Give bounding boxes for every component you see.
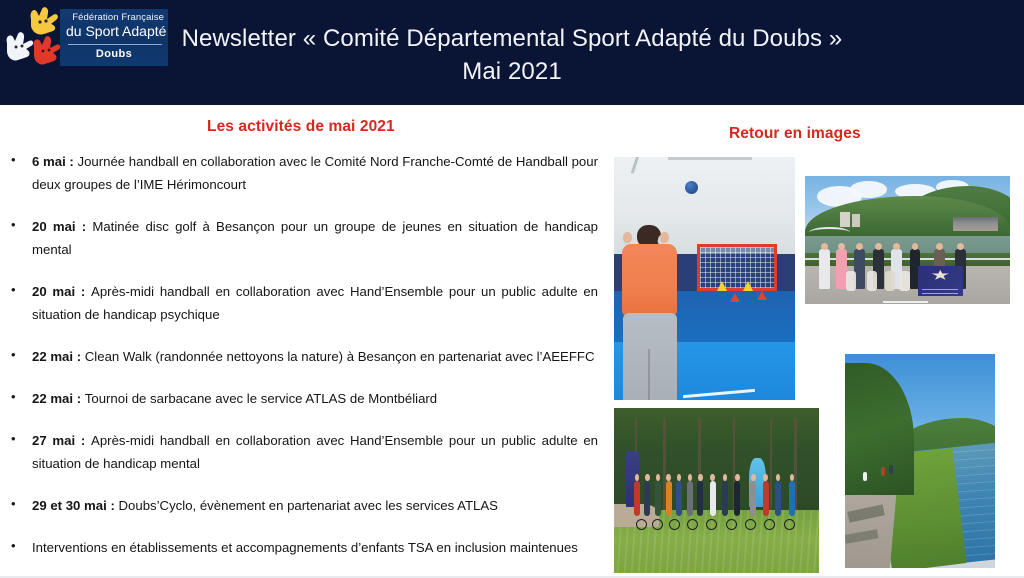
participant-head xyxy=(856,243,863,250)
cyclist-head xyxy=(751,474,756,481)
bullet-icon: • xyxy=(11,495,16,513)
bicycle-wheel xyxy=(669,519,680,530)
court-line xyxy=(683,389,755,398)
training-cone xyxy=(730,293,740,302)
cyclist xyxy=(734,481,740,516)
player-hand xyxy=(623,232,632,243)
training-cone xyxy=(743,281,753,291)
item-text: Tournoi de sarbacane avec le service ATL… xyxy=(85,391,437,406)
trash-bag xyxy=(885,271,895,291)
logo-divider xyxy=(68,44,162,45)
bullet-icon: • xyxy=(11,388,16,406)
banner-logo-icon xyxy=(931,270,949,280)
cyclist xyxy=(697,481,703,516)
item-date: 22 mai : xyxy=(32,349,85,364)
river-cycle-path-photo xyxy=(845,354,995,568)
title-line-2: Mai 2021 xyxy=(176,55,848,88)
item-date: 20 mai : xyxy=(32,284,91,299)
handball-ball xyxy=(685,181,698,194)
item-text: Matinée disc golf à Besançon pour un gro… xyxy=(32,219,598,257)
ffsa-doubs-logo: Fédération Française du Sport Adapté Dou… xyxy=(4,3,168,73)
cyclist-head xyxy=(698,474,703,481)
activities-heading: Les activités de mai 2021 xyxy=(207,118,395,136)
building xyxy=(953,217,998,231)
ceiling-beam xyxy=(631,157,639,173)
item-text: Après-midi handball en collaboration ave… xyxy=(32,433,598,471)
activities-list: • 6 mai : Journée handball en collaborat… xyxy=(0,150,606,578)
list-item: • 22 mai : Tournoi de sarbacane avec le … xyxy=(0,387,606,410)
cyclist xyxy=(676,481,682,516)
building xyxy=(840,212,850,227)
cyclist xyxy=(722,481,728,516)
bicycle-wheel xyxy=(636,519,647,530)
player-figure xyxy=(621,225,681,400)
ceiling-beam xyxy=(668,157,751,160)
item-date: 20 mai : xyxy=(32,219,92,234)
list-item: • 29 et 30 mai : Doubs’Cyclo, évènement … xyxy=(0,494,606,517)
player-trousers xyxy=(623,313,677,401)
page-title: Newsletter « Comité Départemental Sport … xyxy=(176,22,848,88)
cyclist-head xyxy=(645,474,650,481)
cyclist xyxy=(775,481,781,516)
participant-head xyxy=(821,243,828,250)
item-text: Journée handball en collaboration avec l… xyxy=(32,154,598,192)
cyclist-head xyxy=(735,474,740,481)
item-text: Interventions en établissements et accom… xyxy=(32,540,578,555)
training-cone xyxy=(717,281,727,291)
participant-head xyxy=(936,243,943,250)
logo-line-federation: Fédération Française xyxy=(70,12,164,23)
orange-bib xyxy=(622,244,677,316)
cyclist xyxy=(881,467,885,476)
bullet-icon: • xyxy=(11,346,16,364)
participant xyxy=(819,249,830,289)
list-item: • Interventions en établissements et acc… xyxy=(0,536,606,559)
participant-head xyxy=(893,243,900,250)
bullet-icon: • xyxy=(11,151,16,169)
newsletter-page: Fédération Française du Sport Adapté Dou… xyxy=(0,0,1024,578)
item-date: 27 mai : xyxy=(32,433,91,448)
cyclist xyxy=(655,481,661,516)
photo-gallery xyxy=(600,140,1024,578)
item-text: Après-midi handball en collaboration ave… xyxy=(32,284,598,322)
cyclist xyxy=(644,481,650,516)
bullet-icon: • xyxy=(11,281,16,299)
cyclist-head xyxy=(677,474,682,481)
page-header: Fédération Française du Sport Adapté Dou… xyxy=(0,0,1024,105)
bicycle-wheel xyxy=(726,519,737,530)
cyclist-head xyxy=(688,474,693,481)
road-marking xyxy=(883,301,928,303)
bicycle-wheel xyxy=(745,519,756,530)
trash-bag xyxy=(899,271,909,291)
handball-session-photo xyxy=(614,157,795,400)
doubs-cyclo-group-photo xyxy=(614,408,819,573)
cyclist xyxy=(634,481,640,516)
item-date: 6 mai : xyxy=(32,154,77,169)
item-date: 29 et 30 mai : xyxy=(32,498,119,513)
cyclist xyxy=(863,472,867,481)
cyclist-head xyxy=(763,474,768,481)
cyclist xyxy=(687,481,693,516)
trash-bag xyxy=(846,271,856,291)
banner-text xyxy=(922,286,958,294)
mascot-figures-icon xyxy=(4,5,66,71)
logo-text-plate: Fédération Française du Sport Adapté Dou… xyxy=(60,9,168,66)
cyclist-head xyxy=(723,474,728,481)
cyclist xyxy=(750,481,756,516)
cyclist xyxy=(789,481,795,516)
title-line-1: Newsletter « Comité Départemental Sport … xyxy=(182,25,843,52)
cyclist-head xyxy=(776,474,781,481)
logo-line-sport-adapte: du Sport Adapté xyxy=(66,23,164,39)
participant-head xyxy=(957,243,964,250)
list-item: • 6 mai : Journée handball en collaborat… xyxy=(0,150,606,196)
player-hand xyxy=(660,232,669,243)
cloud xyxy=(850,181,887,198)
handball-goal xyxy=(697,244,777,290)
logo-line-doubs: Doubs xyxy=(60,48,168,60)
cyclist-head xyxy=(635,474,640,481)
cyclist xyxy=(763,481,769,516)
item-text: Clean Walk (randonnée nettoyons la natur… xyxy=(85,349,595,364)
participant-head xyxy=(875,243,882,250)
bullet-icon: • xyxy=(11,537,16,555)
cyclist xyxy=(889,465,893,474)
bicycle-wheel xyxy=(706,519,717,530)
list-item: • 27 mai : Après-midi handball en collab… xyxy=(0,429,606,475)
bicycle-wheel xyxy=(784,519,795,530)
goal-net xyxy=(700,247,774,287)
ffsa-banner xyxy=(918,266,963,297)
item-text: Doubs’Cyclo, évènement en partenariat av… xyxy=(119,498,498,513)
trash-bag xyxy=(867,271,877,291)
cyclist-head xyxy=(666,474,671,481)
list-item: • 20 mai : Après-midi handball en collab… xyxy=(0,280,606,326)
cyclist-head xyxy=(790,474,795,481)
cyclist-head xyxy=(710,474,715,481)
list-item: • 20 mai : Matinée disc golf à Besançon … xyxy=(0,215,606,261)
building xyxy=(852,214,860,227)
clean-walk-group-photo xyxy=(805,176,1010,304)
cyclists-row xyxy=(630,481,806,527)
participant-head xyxy=(912,243,919,250)
item-date: 22 mai : xyxy=(32,391,85,406)
participant xyxy=(836,249,847,289)
cyclist xyxy=(666,481,672,516)
participant-head xyxy=(838,243,845,250)
bicycle-wheel xyxy=(687,519,698,530)
bullet-icon: • xyxy=(11,216,16,234)
bullet-icon: • xyxy=(11,430,16,448)
cyclist-head xyxy=(656,474,661,481)
training-cone xyxy=(757,291,767,300)
bicycle-wheel xyxy=(652,519,663,530)
list-item: • 22 mai : Clean Walk (randonnée nettoyo… xyxy=(0,345,606,368)
cyclist xyxy=(710,481,716,516)
